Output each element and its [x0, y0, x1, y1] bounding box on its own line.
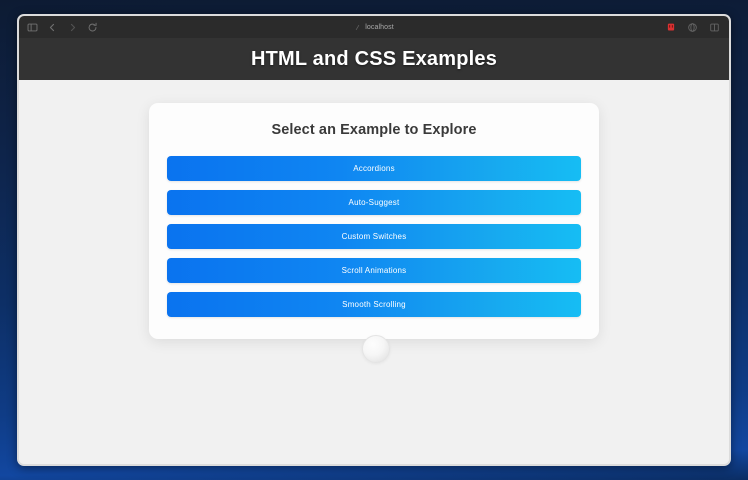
sidebar-toggle-icon[interactable]	[27, 22, 38, 33]
tab-overview-icon[interactable]	[709, 22, 720, 33]
page-title: HTML and CSS Examples	[251, 48, 497, 71]
example-button-custom-switches[interactable]: Custom Switches	[167, 224, 581, 249]
site-header: HTML and CSS Examples	[19, 38, 729, 80]
address-pill[interactable]: localhost	[344, 17, 404, 37]
example-button-scroll-animations[interactable]: Scroll Animations	[167, 258, 581, 283]
back-arrow-icon[interactable]	[47, 22, 58, 33]
example-button-auto-suggest[interactable]: Auto-Suggest	[167, 190, 581, 215]
toolbar-left-controls	[27, 22, 98, 33]
record-icon[interactable]	[665, 22, 676, 33]
example-button-smooth-scrolling[interactable]: Smooth Scrolling	[167, 292, 581, 317]
reload-icon[interactable]	[87, 22, 98, 33]
page-body: Select an Example to Explore Accordions …	[19, 80, 729, 464]
shield-icon	[354, 18, 361, 36]
desktop-backdrop: localhost	[0, 0, 748, 480]
card-title: Select an Example to Explore	[167, 122, 581, 138]
example-list: Accordions Auto-Suggest Custom Switches …	[167, 156, 581, 317]
address-text: localhost	[365, 24, 394, 31]
browser-toolbar: localhost	[19, 16, 729, 38]
example-button-accordions[interactable]: Accordions	[167, 156, 581, 181]
address-bar: localhost	[19, 16, 729, 38]
extensions-icon[interactable]	[687, 22, 698, 33]
forward-arrow-icon[interactable]	[67, 22, 78, 33]
example-selector-card: Select an Example to Explore Accordions …	[149, 103, 599, 339]
browser-window: localhost	[17, 14, 731, 466]
toolbar-right-controls	[665, 16, 720, 38]
cursor-bubble-indicator	[362, 335, 390, 363]
